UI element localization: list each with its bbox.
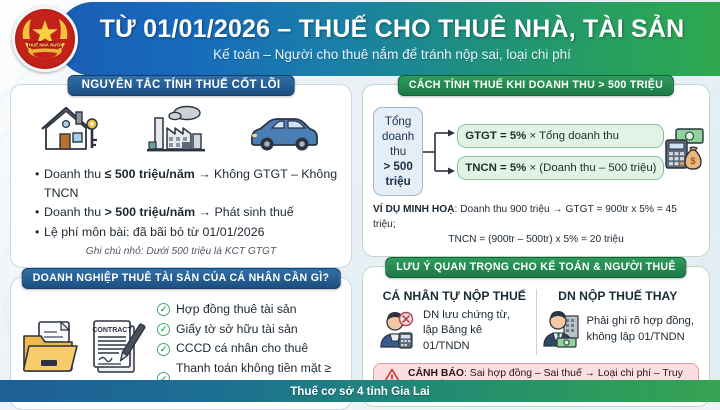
list-item-label: Hợp đồng thuê tài sản (176, 300, 296, 320)
notes-column-text: DN lưu chứng từ, lập Bảng kê 01/TNDN (423, 308, 532, 355)
example-label: VÍ DỤ MINH HOẠ (373, 204, 455, 215)
person-building-money-icon (541, 308, 581, 353)
svg-text:CONTRACT: CONTRACT (92, 327, 132, 334)
person-calculator-icon (377, 309, 417, 354)
page-title: TỪ 01/01/2026 – THUẾ CHO THUÊ NHÀ, TÀI S… (92, 16, 692, 42)
notes-text-line1: Phải ghi rõ hợp đồng, (587, 314, 694, 330)
formula-tncn-rest: × (Doanh thu – 500 triệu) (526, 162, 656, 174)
bullet-text-strong: > 500 triệu/năm (105, 205, 196, 219)
notes-column-enterprise: DN NỘP THUẾ THAY (537, 289, 700, 355)
example-line-2: TNCN = (900tr – 500tr) x 5% = 20 triệu (373, 233, 699, 248)
formula-gtgt-strong: GTGT = 5% (465, 130, 526, 142)
formula-gtgt-rest: × Tổng doanh thu (526, 130, 619, 142)
notes-column-title: DN NỘP THUẾ THAY (541, 289, 696, 303)
content-area: NGUYÊN TẮC TÍNH THUẾ CỐT LÕI (0, 78, 720, 410)
svg-text:$: $ (691, 156, 696, 166)
house-key-icon (40, 104, 106, 159)
flow-result-boxes: GTGT = 5% × Tổng doanh thu TNCN = 5% × (… (457, 124, 664, 180)
check-circle-icon: ✓ (157, 323, 170, 336)
flow-source-line2: > 500 triệu (383, 160, 412, 188)
example-line-1: VÍ DỤ MINH HOẠ: Doanh thu 900 triệu → GT… (373, 203, 699, 233)
formula-tncn-box: TNCN = 5% × (Doanh thu – 500 triệu) (457, 156, 664, 180)
flow-source-box: Tổng doanh thu > 500 triệu (373, 107, 423, 196)
bullet-dot-icon: • (35, 165, 44, 184)
bullet-text-post: → Phát sinh thuế (195, 205, 294, 219)
calculation-flow-diagram: Tổng doanh thu > 500 triệu (373, 107, 699, 196)
bullet-dot-icon: • (35, 223, 44, 242)
calculation-example: VÍ DỤ MINH HOẠ: Doanh thu 900 triệu → GT… (373, 203, 699, 247)
formula-tncn-strong: TNCN = 5% (465, 162, 526, 174)
warning-label: CẢNH BÁO (408, 368, 464, 379)
principles-badge: NGUYÊN TẮC TÍNH THUẾ CỐT LÕI (68, 75, 295, 96)
header-text-block: TỪ 01/01/2026 – THUẾ CHO THUÊ NHÀ, TÀI S… (92, 16, 692, 61)
page-subtitle: Kế toán – Người cho thuê nắm để tránh nộ… (92, 47, 692, 62)
bullet-text-pre: Lệ phí môn bài: đã bãi bỏ từ 01/01/2026 (44, 225, 264, 239)
bullet-text-pre: Doanh thu (44, 205, 105, 219)
flow-arrows-icon (423, 120, 457, 184)
bullet-text-pre: Doanh thu (44, 167, 105, 181)
footer-text: Thuế cơ sở 4 tỉnh Gia Lai (290, 385, 430, 398)
bullet-item: • Doanh thu ≤ 500 triệu/năm → Không GTGT… (35, 165, 341, 203)
principles-note: Ghi chú nhỏ: Dưới 500 triệu là KCT GTGT (21, 246, 341, 257)
bullet-item: • Doanh thu > 500 triệu/năm → Phát sinh … (35, 203, 341, 222)
notes-text-line2: lập Bảng kê 01/TNDN (423, 323, 532, 354)
left-column: NGUYÊN TẮC TÍNH THUẾ CỐT LÕI (10, 84, 352, 410)
bullet-item: • Lệ phí môn bài: đã bãi bỏ từ 01/01/202… (35, 223, 341, 242)
car-icon (246, 112, 322, 159)
formula-gtgt-box: GTGT = 5% × Tổng doanh thu (457, 124, 664, 148)
page-header: THUẾ NHÀ NƯỚC TỪ 01/01/2026 – THUẾ CHO T… (0, 0, 720, 78)
notes-column-text: Phải ghi rõ hợp đồng, không lập 01/TNDN (587, 314, 694, 345)
money-calculator-icon-group: $ (664, 126, 706, 178)
notes-text-line1: DN lưu chứng từ, (423, 308, 532, 324)
list-item: ✓ Giấy tờ sở hữu tài sản (157, 320, 341, 340)
check-circle-icon: ✓ (157, 343, 170, 356)
factory-icon (145, 104, 207, 159)
right-column: CÁCH TÍNH THUẾ KHI DOANH THU > 500 TRIỆU… (362, 84, 710, 410)
bullet-text-strong: ≤ 500 triệu/năm (105, 167, 195, 181)
bullet-dot-icon: • (35, 203, 44, 222)
check-circle-icon: ✓ (157, 303, 170, 316)
flow-source-line1: Tổng doanh thu (382, 114, 414, 159)
calculation-card: CÁCH TÍNH THUẾ KHI DOANH THU > 500 TRIỆU… (362, 84, 710, 257)
list-item-label: CCCD cá nhân cho thuê (176, 339, 308, 359)
notes-badge: LƯU Ý QUAN TRỌNG CHO KẾ TOÁN & NGƯỜI THU… (385, 257, 686, 278)
notes-column-title: CÁ NHÂN TỰ NỘP THUẾ (377, 289, 532, 303)
principles-icon-row (21, 105, 341, 159)
principles-bullet-list: • Doanh thu ≤ 500 triệu/năm → Không GTGT… (21, 165, 341, 242)
notes-column-body: Phải ghi rõ hợp đồng, không lập 01/TNDN (541, 308, 696, 353)
infographic-page: THUẾ NHÀ NƯỚC TỪ 01/01/2026 – THUẾ CHO T… (0, 0, 720, 402)
notes-text-line2: không lập 01/TNDN (587, 330, 694, 346)
notes-column-body: DN lưu chứng từ, lập Bảng kê 01/TNDN (377, 308, 532, 355)
principles-card: NGUYÊN TẮC TÍNH THUẾ CỐT LÕI (10, 84, 352, 268)
calculator-icon (666, 140, 687, 168)
notes-two-columns: CÁ NHÂN TỰ NỘP THUẾ (373, 289, 699, 355)
folder-icon (21, 316, 83, 383)
list-item: ✓ CCCD cá nhân cho thuê (157, 339, 341, 359)
vietnam-tax-emblem-icon: THUẾ NHÀ NƯỚC (12, 6, 78, 72)
notes-column-individual: CÁ NHÂN TỰ NỘP THUẾ (373, 289, 537, 355)
contract-pen-icon: CONTRACT (91, 316, 149, 383)
calculation-badge: CÁCH TÍNH THUẾ KHI DOANH THU > 500 TRIỆU (398, 75, 674, 96)
list-item-label: Giấy tờ sở hữu tài sản (176, 320, 298, 340)
list-item: ✓ Hợp đồng thuê tài sản (157, 300, 341, 320)
page-footer: Thuế cơ sở 4 tỉnh Gia Lai (0, 380, 720, 402)
svg-text:THUẾ NHÀ NƯỚC: THUẾ NHÀ NƯỚC (26, 43, 64, 48)
documents-badge: DOANH NGHIỆP THUÊ TÀI SẢN CỦA CÁ NHÂN CẦ… (22, 268, 341, 289)
